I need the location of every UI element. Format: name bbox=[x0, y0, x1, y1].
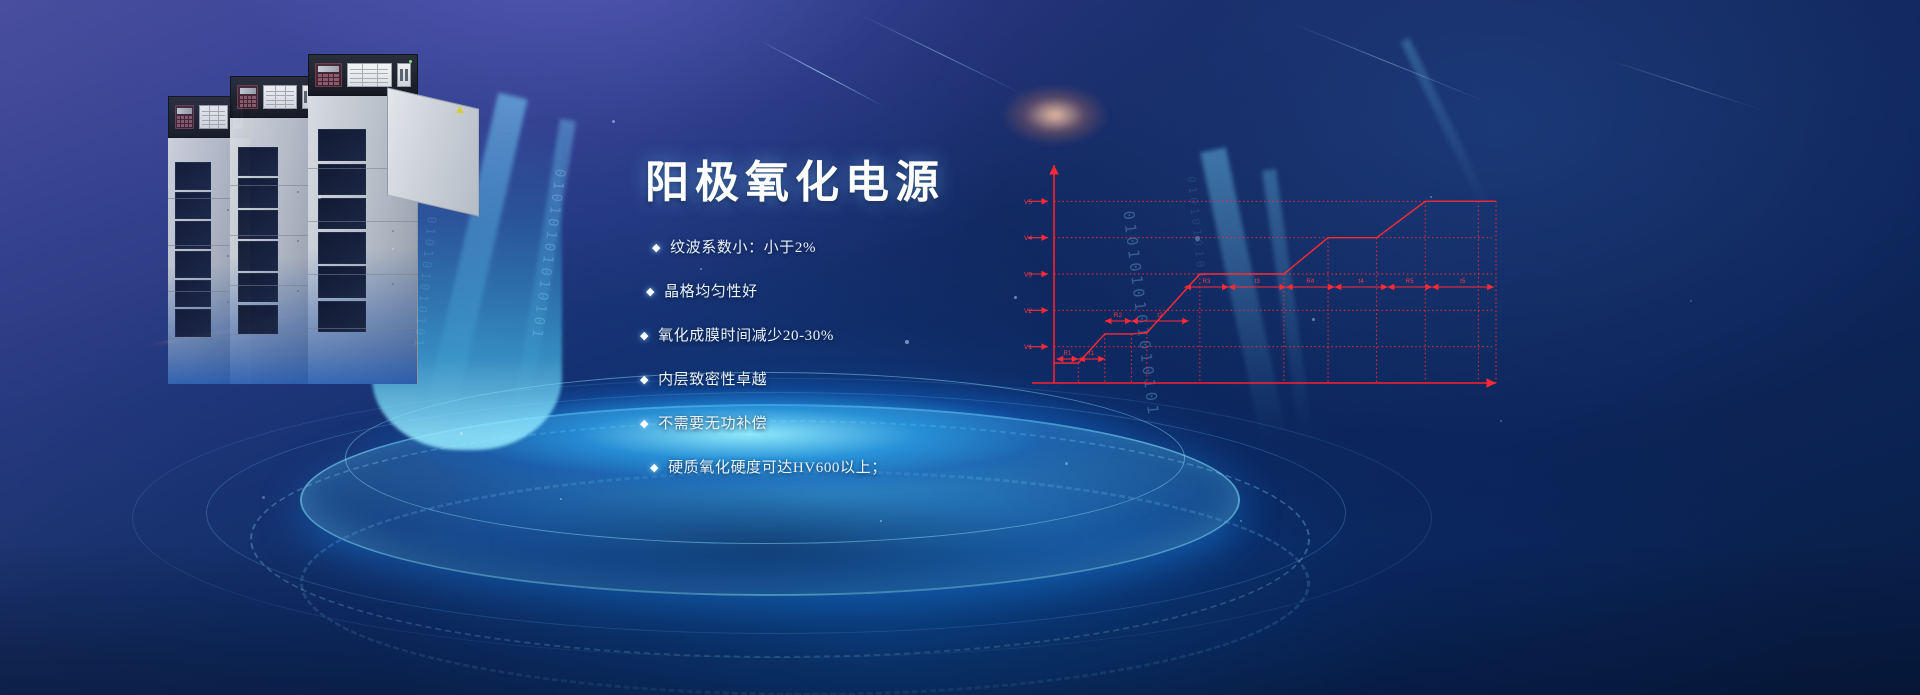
lens-flare bbox=[980, 72, 1130, 158]
list-item: ◆ 硬质氧化硬度可达HV600以上； bbox=[650, 458, 1116, 502]
cabinet-middle bbox=[230, 108, 320, 384]
hmi-screen bbox=[240, 88, 256, 94]
cabinet-vents bbox=[238, 147, 278, 384]
hmi-terminal[interactable] bbox=[175, 105, 194, 130]
list-item-label: 硬质氧化硬度可达HV600以上； bbox=[668, 458, 887, 478]
diamond-bullet-icon: ◆ bbox=[640, 326, 649, 346]
voltage-profile-chart: R1t1R2t2R3t3R4t4R5t5 V1V2V3V4V5 bbox=[1020, 155, 1500, 400]
cabinet-vents bbox=[175, 162, 211, 384]
svg-text:V5: V5 bbox=[1024, 199, 1033, 206]
streak bbox=[760, 40, 884, 107]
hmi-keypad[interactable] bbox=[318, 74, 339, 85]
list-item-label: 纹波系数小：小于2% bbox=[670, 238, 816, 258]
warning-triangle-icon bbox=[456, 106, 464, 113]
svg-text:R4: R4 bbox=[1306, 279, 1315, 285]
status-led bbox=[409, 60, 412, 63]
svg-text:V3: V3 bbox=[1024, 272, 1033, 279]
svg-text:t2: t2 bbox=[1157, 313, 1163, 319]
hmi-terminal[interactable] bbox=[237, 85, 258, 110]
streak bbox=[1610, 60, 1762, 110]
hmi-keypad[interactable] bbox=[177, 116, 191, 127]
hmi-screen bbox=[177, 108, 191, 114]
list-item-label: 氧化成膜时间减少20-30% bbox=[658, 326, 834, 346]
panel-label-plate bbox=[263, 85, 296, 110]
svg-text:R3: R3 bbox=[1202, 279, 1211, 285]
diamond-bullet-icon: ◆ bbox=[640, 370, 649, 390]
chart-gridlines bbox=[1054, 201, 1496, 383]
chart-svg: R1t1R2t2R3t3R4t4R5t5 V1V2V3V4V5 bbox=[1020, 155, 1500, 400]
chart-y-tick-labels: V1V2V3V4V5 bbox=[1024, 199, 1033, 351]
diamond-bullet-icon: ◆ bbox=[646, 282, 655, 302]
svg-text:t3: t3 bbox=[1255, 279, 1261, 285]
list-item-label: 晶格均匀性好 bbox=[664, 282, 758, 302]
svg-text:t1: t1 bbox=[1089, 351, 1095, 357]
panel-label-plate bbox=[199, 105, 228, 130]
chart-series-voltage-profile bbox=[1054, 201, 1496, 363]
svg-text:R1: R1 bbox=[1063, 351, 1072, 357]
cabinet-control-panel[interactable] bbox=[308, 54, 418, 96]
panel-label-plate bbox=[347, 63, 392, 88]
list-item-label: 不需要无功补偿 bbox=[658, 414, 767, 434]
cabinet-top-slab bbox=[387, 87, 479, 216]
streak bbox=[1290, 22, 1485, 102]
hmi-terminal[interactable] bbox=[315, 63, 342, 88]
diamond-bullet-icon: ◆ bbox=[640, 414, 649, 434]
cabinet-control-panel[interactable] bbox=[230, 76, 320, 118]
streak bbox=[860, 14, 1022, 94]
svg-text:V1: V1 bbox=[1024, 344, 1033, 351]
svg-text:t4: t4 bbox=[1358, 279, 1364, 285]
podium-dashed-ring-2 bbox=[300, 470, 1310, 695]
svg-text:t5: t5 bbox=[1460, 279, 1466, 285]
list-item: ◆ 不需要无功补偿 bbox=[640, 414, 1116, 458]
warning-badge bbox=[456, 106, 464, 113]
svg-text:V2: V2 bbox=[1024, 308, 1033, 315]
list-item-label: 内层致密性卓越 bbox=[658, 370, 767, 390]
page-title: 阳极氧化电源 bbox=[645, 146, 945, 210]
svg-text:V4: V4 bbox=[1024, 235, 1033, 242]
hmi-screen bbox=[318, 66, 339, 72]
svg-text:R2: R2 bbox=[1114, 313, 1123, 319]
svg-text:R5: R5 bbox=[1406, 279, 1415, 285]
product-cabinets bbox=[168, 84, 478, 384]
banner-stage: 01010101010101 010101010101 010101010101… bbox=[0, 0, 1920, 695]
breaker-switch[interactable] bbox=[397, 63, 411, 88]
diamond-bullet-icon: ◆ bbox=[652, 238, 661, 258]
hmi-keypad[interactable] bbox=[240, 96, 256, 107]
diamond-bullet-icon: ◆ bbox=[650, 458, 659, 478]
